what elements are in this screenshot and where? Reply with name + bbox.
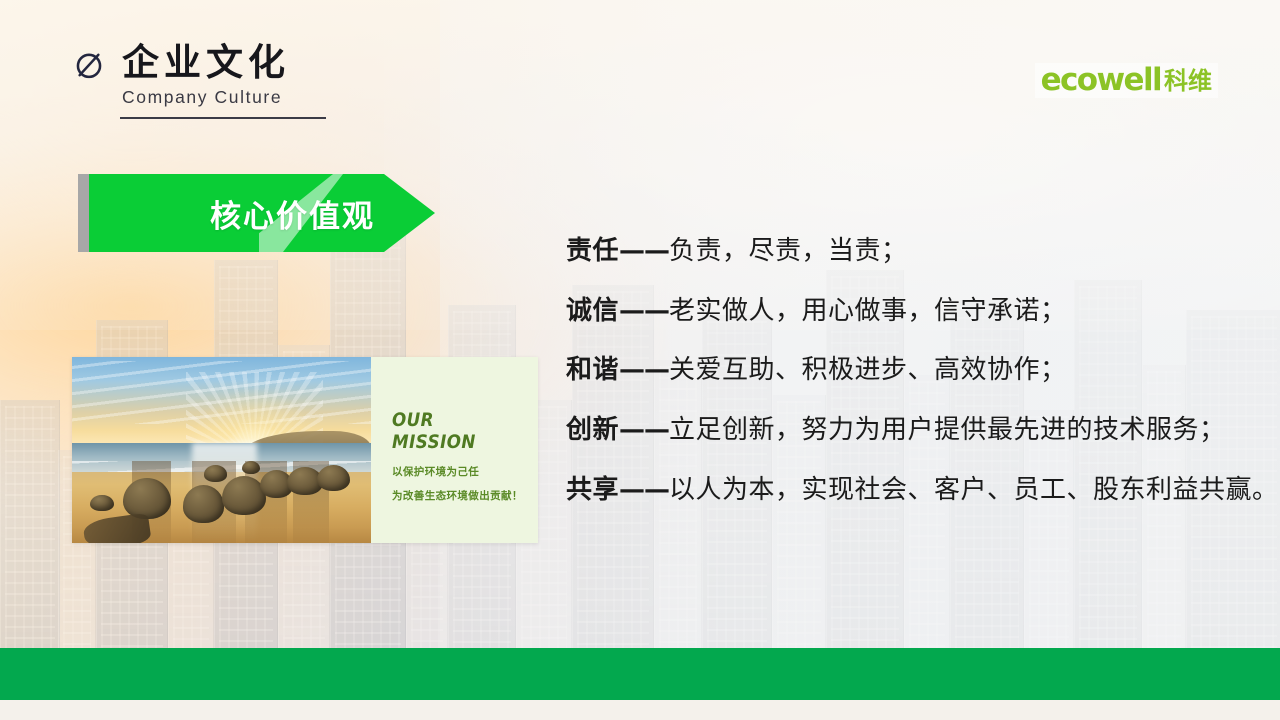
mission-photo — [72, 357, 371, 543]
value-key: 创新 — [566, 415, 619, 445]
value-dash: —— — [619, 415, 669, 445]
slide-canvas: 企业文化 Company Culture ecowell 科维 核心价值观 — [0, 0, 1280, 720]
value-description: 关爱互助、积极进步、高效协作； — [669, 355, 1067, 385]
value-row: 和谐——关爱互助、积极进步、高效协作； — [566, 355, 1266, 386]
section-banner: 核心价值观 — [78, 174, 435, 252]
mission-line-2: 为改善生态环境做出贡献！ — [392, 488, 538, 503]
page-subtitle: Company Culture — [122, 87, 492, 108]
value-key: 诚信 — [566, 296, 619, 326]
value-dash: —— — [619, 355, 669, 385]
company-logo: ecowell 科维 — [1035, 63, 1218, 98]
value-description: 负责，尽责，当责； — [669, 236, 908, 266]
value-description: 以人为本，实现社会、客户、员工、股东利益共赢。 — [669, 475, 1279, 505]
mission-card: OUR MISSION 以保护环境为己任 为改善生态环境做出贡献！ — [72, 357, 538, 543]
footer-green-bar — [0, 648, 1280, 700]
logo-chinese-name: 科维 — [1164, 69, 1212, 93]
footer-strip — [0, 700, 1280, 720]
value-row: 责任——负责，尽责，当责； — [566, 236, 1266, 267]
value-key: 和谐 — [566, 355, 619, 385]
value-row: 共享——以人为本，实现社会、客户、员工、股东利益共赢。 — [566, 475, 1266, 506]
value-row: 创新——立足创新，努力为用户提供最先进的技术服务； — [566, 415, 1266, 446]
value-key: 责任 — [566, 236, 619, 266]
banner-body: 核心价值观 — [89, 174, 435, 252]
page-title: 企业文化 — [122, 44, 290, 83]
page-header: 企业文化 Company Culture — [72, 44, 492, 119]
value-dash: —— — [619, 296, 669, 326]
logo-wordmark: ecowell — [1041, 65, 1161, 96]
mission-title: OUR MISSION — [392, 409, 520, 453]
header-divider — [120, 117, 326, 119]
mission-text-panel: OUR MISSION 以保护环境为己任 为改善生态环境做出贡献！ — [371, 357, 538, 543]
value-row: 诚信——老实做人，用心做事，信守承诺； — [566, 296, 1266, 327]
banner-accent-bar — [78, 174, 89, 252]
value-description: 老实做人，用心做事，信守承诺； — [669, 296, 1067, 326]
value-key: 共享 — [566, 475, 619, 505]
banner-label: 核心价值观 — [89, 174, 391, 252]
value-description: 立足创新，努力为用户提供最先进的技术服务； — [669, 415, 1226, 445]
value-dash: —— — [619, 475, 669, 505]
core-values-list: 责任——负责，尽责，当责； 诚信——老实做人，用心做事，信守承诺； 和谐——关爱… — [566, 236, 1266, 505]
value-dash: —— — [619, 236, 669, 266]
mission-line-1: 以保护环境为己任 — [392, 464, 538, 479]
slashed-circle-icon — [72, 48, 106, 82]
